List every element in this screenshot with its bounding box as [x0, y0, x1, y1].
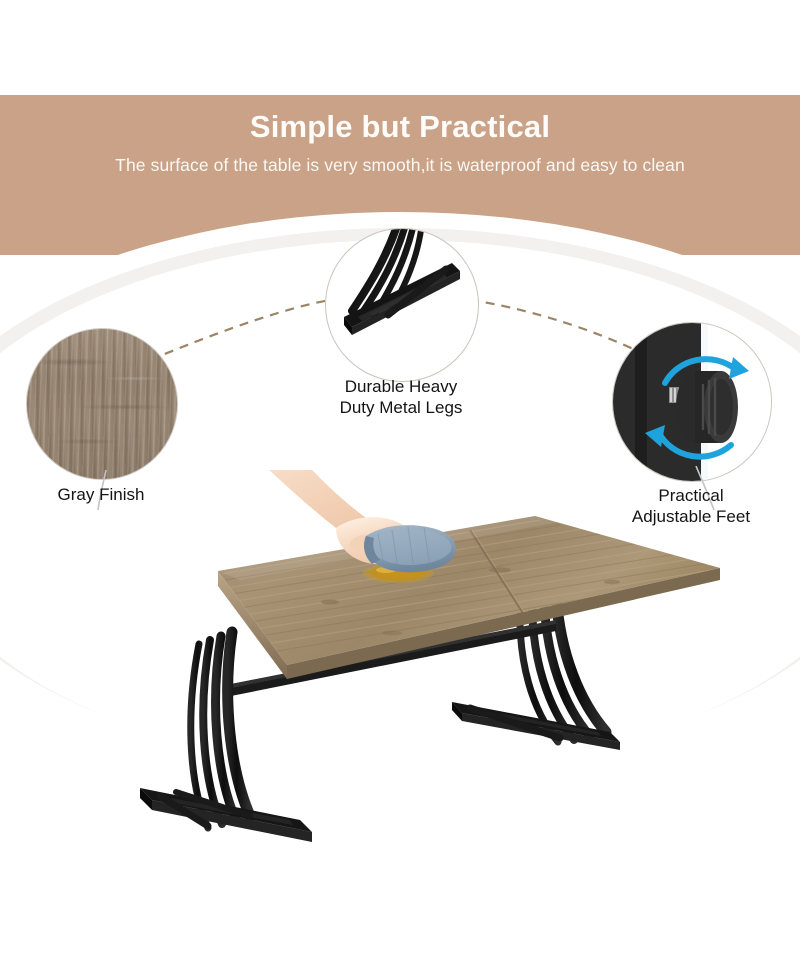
callout-label-line-2: Duty Metal Legs	[301, 397, 501, 418]
callout-label-line-1: Durable Heavy	[301, 376, 501, 397]
product-feature-infographic: Simple but Practical The surface of the …	[0, 0, 800, 977]
adjustable-foot-icon	[613, 323, 771, 481]
product-photo-dining-table	[0, 470, 800, 900]
dashed-arc-left	[150, 300, 330, 360]
callout-label-metal-legs: Durable Heavy Duty Metal Legs	[301, 376, 501, 418]
foot-knob	[676, 371, 738, 443]
metal-leg-icon	[326, 229, 478, 381]
callout-gray-finish-swatch	[26, 328, 178, 480]
dashed-arc-right	[470, 300, 650, 357]
wood-grain-icon	[27, 329, 177, 479]
callout-adjustable-feet-photo	[612, 322, 772, 482]
callout-metal-legs-photo	[325, 228, 479, 382]
page-title: Simple but Practical	[0, 108, 800, 146]
table-top	[218, 516, 730, 679]
page-subtitle: The surface of the table is very smooth,…	[0, 153, 800, 177]
